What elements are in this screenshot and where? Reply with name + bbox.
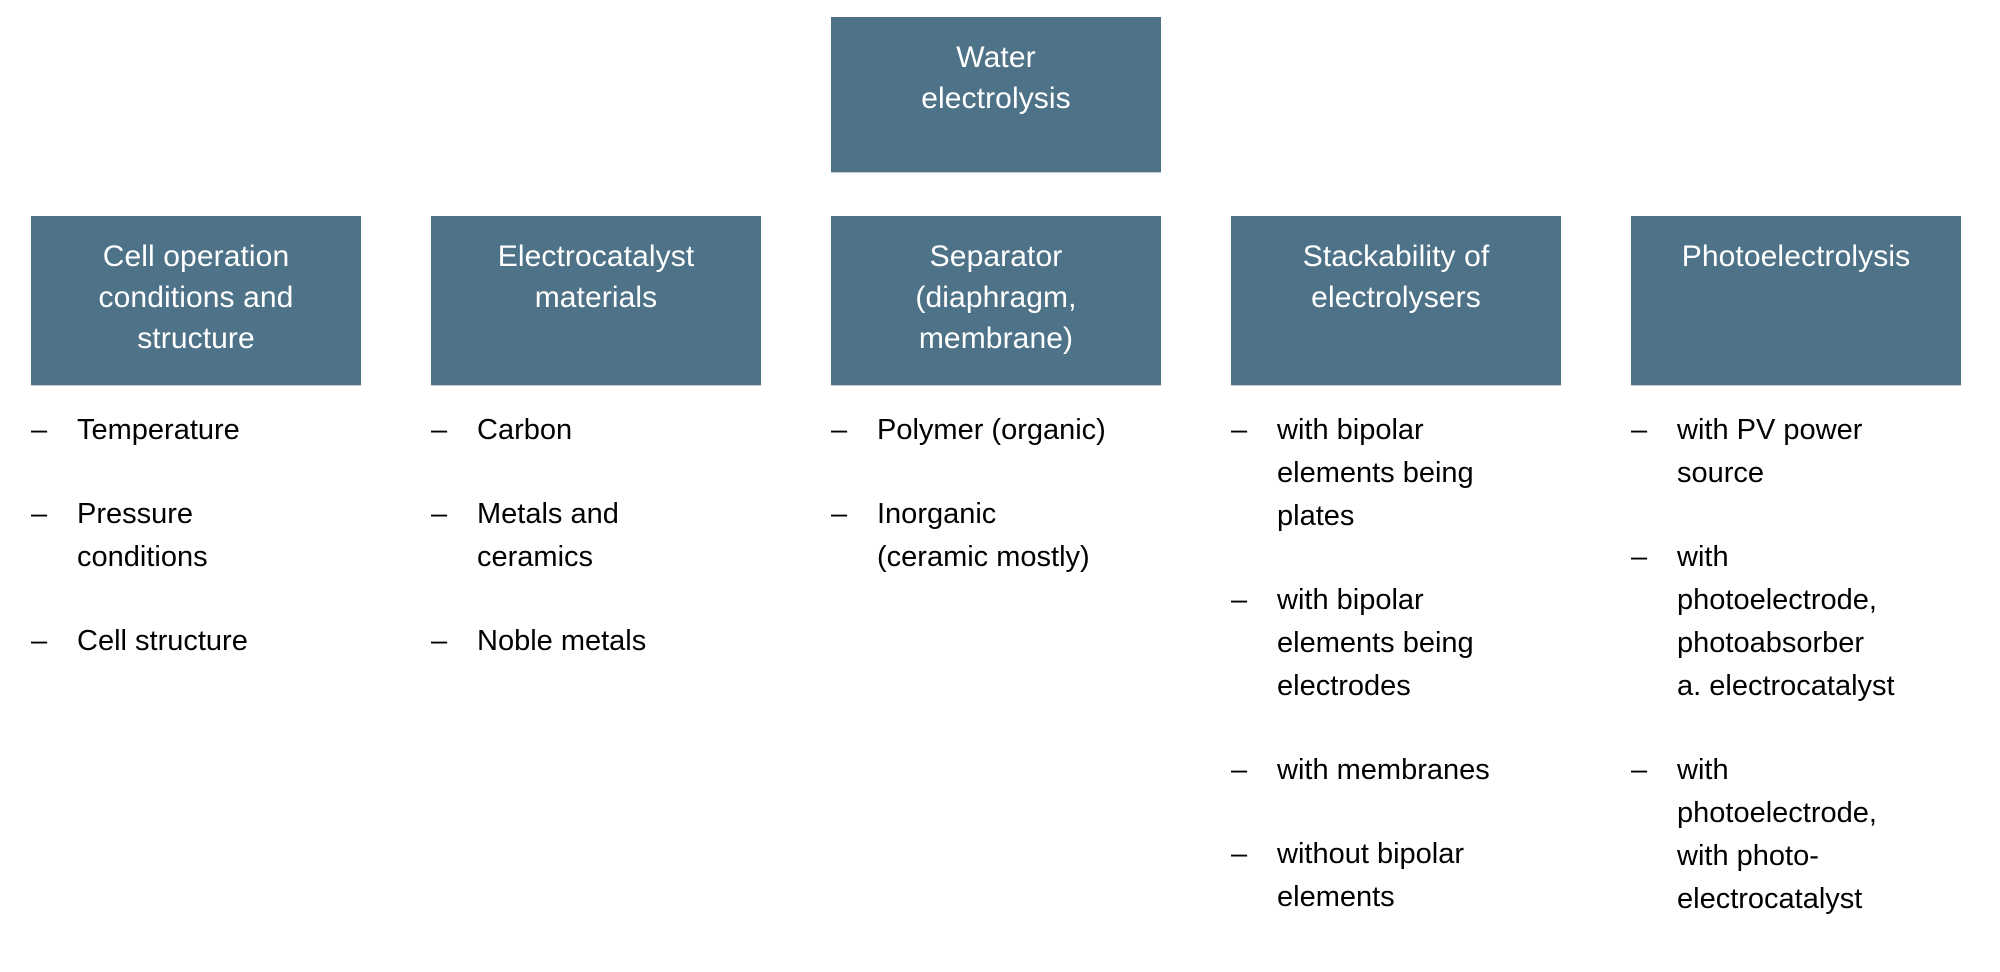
- column-list-separator: – Polymer (organic) – Inorganic (ceramic…: [831, 409, 1161, 579]
- dash-bullet-icon: –: [831, 409, 877, 452]
- list-item: – Pressure conditions: [31, 493, 361, 579]
- column-separator: Separator (diaphragm, membrane) – Polyme…: [831, 216, 1161, 620]
- list-item-label: without bipolar elements: [1277, 833, 1561, 919]
- list-item: – without bipolar elements: [1231, 833, 1561, 919]
- list-item: – Polymer (organic): [831, 409, 1161, 452]
- dash-bullet-icon: –: [431, 493, 477, 536]
- list-item: – with photoelectrode, photoabsorber a. …: [1631, 536, 1961, 708]
- list-item: – with bipolar elements being electrodes: [1231, 579, 1561, 708]
- list-item-label: Polymer (organic): [877, 409, 1161, 452]
- column-header-photoelectrolysis: Photoelectrolysis: [1631, 216, 1961, 385]
- list-item: – Cell structure: [31, 620, 361, 663]
- dash-bullet-icon: –: [1231, 579, 1277, 622]
- dash-bullet-icon: –: [1231, 749, 1277, 792]
- column-list-electrocatalyst-materials: – Carbon – Metals and ceramics – Noble m…: [431, 409, 761, 663]
- dash-bullet-icon: –: [1231, 409, 1277, 452]
- list-item-label: Cell structure: [77, 620, 361, 663]
- column-photoelectrolysis: Photoelectrolysis – with PV power source…: [1631, 216, 1961, 962]
- list-item: – with bipolar elements being plates: [1231, 409, 1561, 538]
- column-cell-operation: Cell operation conditions and structure …: [31, 216, 361, 704]
- list-item-label: Noble metals: [477, 620, 761, 663]
- column-header-electrocatalyst-materials: Electrocatalyst materials: [431, 216, 761, 385]
- list-item: – with photoelectrode, with photo- elect…: [1631, 749, 1961, 921]
- column-header-separator: Separator (diaphragm, membrane): [831, 216, 1161, 385]
- column-list-stackability: – with bipolar elements being plates – w…: [1231, 409, 1561, 919]
- dash-bullet-icon: –: [431, 620, 477, 663]
- column-header-stackability: Stackability of electrolysers: [1231, 216, 1561, 385]
- dash-bullet-icon: –: [31, 493, 77, 536]
- list-item: – with membranes: [1231, 749, 1561, 792]
- column-header-cell-operation: Cell operation conditions and structure: [31, 216, 361, 385]
- list-item-label: Temperature: [77, 409, 361, 452]
- column-list-photoelectrolysis: – with PV power source – with photoelect…: [1631, 409, 1961, 921]
- dash-bullet-icon: –: [31, 409, 77, 452]
- list-item-label: with photoelectrode, with photo- electro…: [1677, 749, 1961, 921]
- dash-bullet-icon: –: [1631, 536, 1677, 579]
- list-item-label: Metals and ceramics: [477, 493, 761, 579]
- list-item-label: Carbon: [477, 409, 761, 452]
- list-item: – Temperature: [31, 409, 361, 452]
- list-item-label: with bipolar elements being plates: [1277, 409, 1561, 538]
- dash-bullet-icon: –: [1631, 409, 1677, 452]
- list-item: – with PV power source: [1631, 409, 1961, 495]
- dash-bullet-icon: –: [31, 620, 77, 663]
- dash-bullet-icon: –: [831, 493, 877, 536]
- column-stackability: Stackability of electrolysers – with bip…: [1231, 216, 1561, 960]
- list-item: – Inorganic (ceramic mostly): [831, 493, 1161, 579]
- list-item: – Carbon: [431, 409, 761, 452]
- dash-bullet-icon: –: [431, 409, 477, 452]
- column-electrocatalyst-materials: Electrocatalyst materials – Carbon – Met…: [431, 216, 761, 704]
- list-item: – Noble metals: [431, 620, 761, 663]
- category-columns: Cell operation conditions and structure …: [0, 0, 2000, 972]
- list-item-label: with membranes: [1277, 749, 1561, 792]
- list-item-label: Inorganic (ceramic mostly): [877, 493, 1161, 579]
- list-item-label: with photoelectrode, photoabsorber a. el…: [1677, 536, 1961, 708]
- list-item: – Metals and ceramics: [431, 493, 761, 579]
- list-item-label: Pressure conditions: [77, 493, 361, 579]
- dash-bullet-icon: –: [1631, 749, 1677, 792]
- list-item-label: with PV power source: [1677, 409, 1961, 495]
- dash-bullet-icon: –: [1231, 833, 1277, 876]
- list-item-label: with bipolar elements being electrodes: [1277, 579, 1561, 708]
- diagram-canvas: Water electrolysis Cell operation condit…: [0, 0, 2000, 972]
- column-list-cell-operation: – Temperature – Pressure conditions – Ce…: [31, 409, 361, 663]
